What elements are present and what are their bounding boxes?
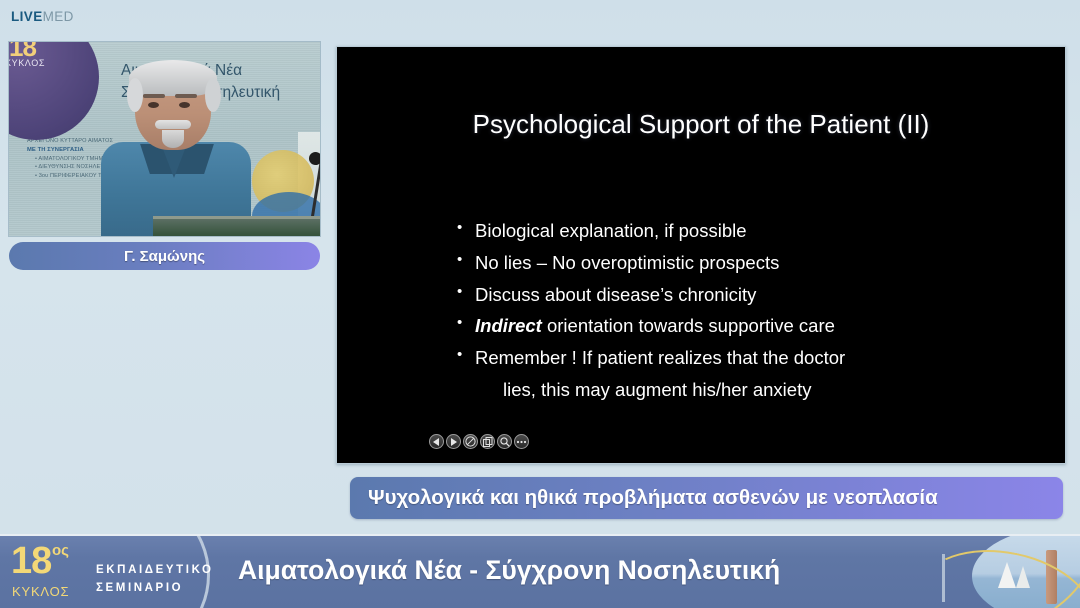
bullet-marker: •	[457, 279, 475, 305]
bullet-text: Indirect orientation towards supportive …	[475, 310, 1037, 342]
list-item: • No lies – No overoptimistic prospects	[457, 247, 1037, 279]
speaker-eyebrow-right	[175, 94, 197, 98]
speaker-eye-left	[148, 102, 159, 108]
microphone-icon	[309, 152, 320, 165]
session-title-bar: Ψυχολογικά και ηθικά προβλήματα ασθενών …	[350, 477, 1063, 519]
footer-cycle-superscript: ος	[52, 542, 69, 559]
bullet-text: Remember ! If patient realizes that the …	[475, 342, 1037, 374]
speaker-hair-right	[205, 78, 221, 112]
session-title-label: Ψυχολογικά και ηθικά προβλήματα ασθενών …	[368, 486, 938, 510]
presentation-slide[interactable]: Psychological Support of the Patient (II…	[336, 46, 1066, 464]
bullet-text: No lies – No overoptimistic prospects	[475, 247, 1037, 279]
bullet-emphasis: Indirect	[475, 315, 542, 336]
bullet-text-rest: orientation towards supportive care	[542, 315, 835, 336]
footer-seminar-label: ΕΚΠΑΙΔΕΥΤΙΚΟ ΣΕΜΙΝΑΡΙΟ	[96, 562, 214, 598]
app-root: LIVEMED Αιματολογικά Νέα Σύγχρονη Νοσηλε…	[0, 0, 1080, 608]
bullet-text: Discuss about disease’s chronicity	[475, 279, 1037, 311]
bullet-marker: •	[457, 215, 475, 241]
footer-seminar-line2: ΣΕΜΙΝΑΡΙΟ	[96, 580, 214, 598]
brand-logo: LIVEMED	[11, 9, 74, 24]
no-annotation-icon[interactable]	[463, 434, 478, 449]
speaker-hair-left	[127, 78, 143, 112]
bullet-text: Biological explanation, if possible	[475, 215, 1037, 247]
bullet-marker: •	[457, 310, 475, 336]
speaker-eyebrow-left	[143, 94, 165, 98]
event-footer: 18 ος ΚΥΚΛΟΣ ΕΚΠΑΙΔΕΥΤΙΚΟ ΣΕΜΙΝΑΡΙΟ Αιμα…	[0, 534, 1080, 608]
bullet-marker: •	[457, 247, 475, 273]
footer-cycle-word: ΚΥΚΛΟΣ	[12, 584, 69, 599]
speaker-mustache	[155, 120, 191, 129]
list-item: • Biological explanation, if possible	[457, 215, 1037, 247]
footer-cycle-number: 18	[11, 542, 51, 580]
pages-icon[interactable]	[480, 434, 495, 449]
zoom-icon[interactable]	[497, 434, 512, 449]
slide-control-bar[interactable]	[429, 434, 529, 449]
footer-seminar-line1: ΕΚΠΑΙΔΕΥΤΙΚΟ	[96, 562, 214, 580]
backdrop-cycle-word: ΚΥΚΛΟΣ	[9, 58, 45, 68]
previous-icon[interactable]	[429, 434, 444, 449]
speaker-figure	[101, 64, 251, 236]
brand-logo-secondary: MED	[43, 9, 74, 24]
speaker-eye-right	[179, 102, 190, 108]
list-item: • Indirect orientation towards supportiv…	[457, 310, 1037, 342]
slide-title: Psychological Support of the Patient (II…	[337, 109, 1065, 140]
brand-logo-primary: LIVE	[11, 9, 43, 24]
footer-artwork	[894, 536, 1080, 608]
bullet-marker: •	[457, 342, 475, 368]
list-item: • Discuss about disease’s chronicity	[457, 279, 1037, 311]
speaker-goatee	[162, 130, 184, 148]
play-icon[interactable]	[446, 434, 461, 449]
podium	[153, 216, 320, 236]
footer-event-title: Αιματολογικά Νέα - Σύγχρονη Νοσηλευτική	[238, 555, 780, 586]
backdrop-coop-heading: ΜΕ ΤΗ ΣΥΝΕΡΓΑΣΙΑ	[27, 147, 84, 153]
more-options-icon[interactable]	[514, 434, 529, 449]
speaker-video[interactable]: Αιματολογικά Νέα Σύγχρονη Νοσηλευτική ΔΙ…	[9, 42, 320, 236]
list-item: • Remember ! If patient realizes that th…	[457, 342, 1037, 374]
slide-bullet-list: • Biological explanation, if possible • …	[457, 215, 1037, 406]
speaker-name-label: Γ. Σαμώνης	[124, 248, 205, 265]
speaker-name-badge: Γ. Σαμώνης	[9, 242, 320, 270]
bullet-continuation: lies, this may augment his/her anxiety	[503, 374, 1037, 406]
